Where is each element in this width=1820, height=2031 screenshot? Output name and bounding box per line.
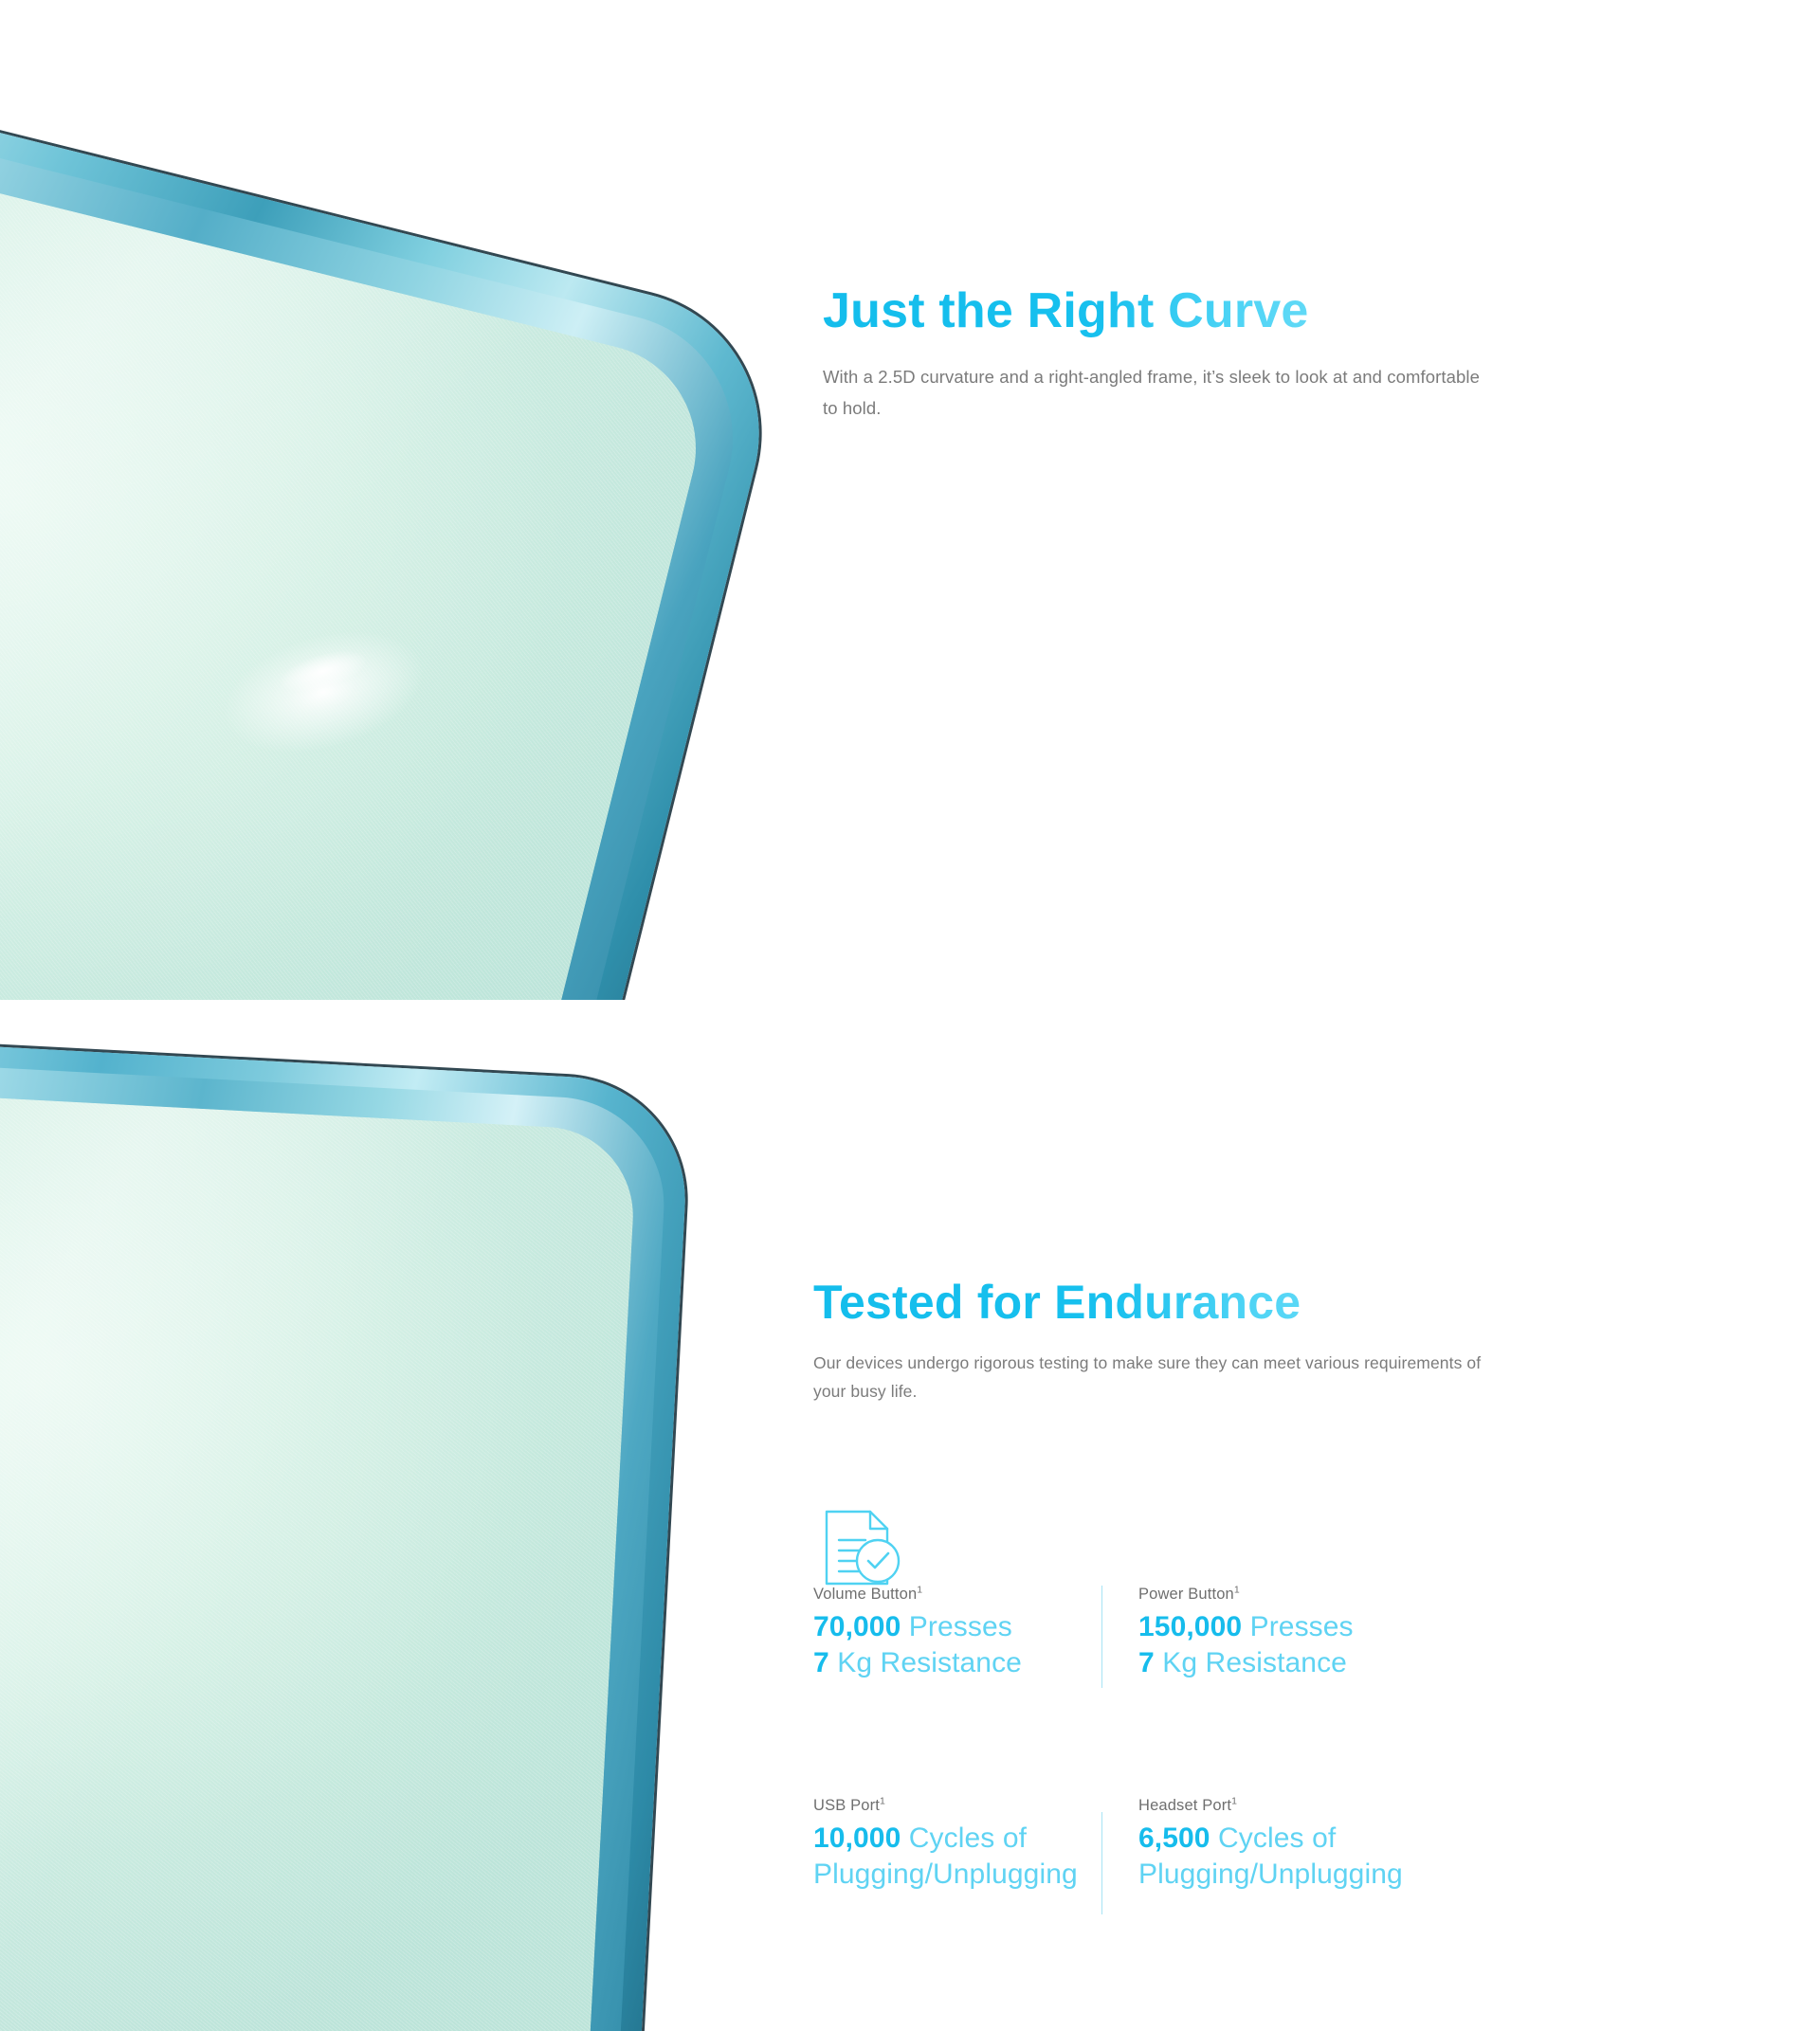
stats-row-ports: USB Port1 10,000 Cycles of Plugging/Unpl… (813, 1797, 1515, 1914)
stat-unit: Plugging/Unplugging (813, 1859, 1078, 1890)
section-just-the-right-curve: Just the Right Curve With a 2.5D curvatu… (0, 0, 1820, 1000)
stat-label-text: Volume Button (813, 1586, 917, 1603)
stat-label: Headset Port1 (1138, 1797, 1444, 1815)
stats-row-buttons: Volume Button1 70,000 Presses 7 Kg Resis… (813, 1586, 1515, 1688)
stat-footnote-marker: 1 (1234, 1585, 1240, 1596)
stat-label: USB Port1 (813, 1797, 1079, 1815)
stat-label-text: USB Port (813, 1797, 880, 1814)
stat-footnote-marker: 1 (917, 1585, 922, 1596)
curve-body-text: With a 2.5D curvature and a right-angled… (823, 362, 1486, 424)
stat-unit: Plugging/Unplugging (1138, 1859, 1403, 1890)
stat-value: 7 (1138, 1647, 1155, 1678)
device-photo-curve (0, 0, 948, 1000)
stat-value: 150,000 (1138, 1611, 1242, 1642)
stat-line-2: Plugging/Unplugging (813, 1857, 1079, 1893)
stat-line-2: Plugging/Unplugging (1138, 1857, 1444, 1893)
stat-line-2: 7 Kg Resistance (813, 1645, 1079, 1681)
stat-unit: Cycles of (1210, 1822, 1337, 1854)
stat-value: 7 (813, 1647, 829, 1678)
stat-unit: Kg Resistance (1155, 1647, 1347, 1678)
stat-footnote-marker: 1 (880, 1796, 885, 1807)
stat-value: 6,500 (1138, 1822, 1210, 1854)
endurance-body-text: Our devices undergo rigorous testing to … (813, 1349, 1515, 1405)
phone-corner-image-top (0, 59, 789, 1000)
stat-label: Volume Button1 (813, 1586, 1079, 1604)
stat-label: Power Button1 (1138, 1586, 1444, 1604)
stat-footnote-marker: 1 (1231, 1796, 1237, 1807)
certificate-document-check-icon (813, 1502, 904, 1593)
phone-corner-image-bottom (0, 1032, 691, 2031)
stat-value: 10,000 (813, 1822, 901, 1854)
curve-headline: Just the Right Curve (823, 284, 1486, 337)
device-back-panel (0, 1086, 638, 2031)
stat-line-1: 10,000 Cycles of (813, 1821, 1079, 1857)
stat-unit: Presses (901, 1611, 1012, 1642)
endurance-stats-grid: Volume Button1 70,000 Presses 7 Kg Resis… (813, 1586, 1515, 1914)
product-feature-page: Just the Right Curve With a 2.5D curvatu… (0, 0, 1820, 2031)
stat-volume-button: Volume Button1 70,000 Presses 7 Kg Resis… (813, 1586, 1101, 1681)
stat-value: 70,000 (813, 1611, 901, 1642)
stat-unit: Kg Resistance (829, 1647, 1022, 1678)
stat-line-2: 7 Kg Resistance (1138, 1645, 1444, 1681)
stat-usb-port: USB Port1 10,000 Cycles of Plugging/Unpl… (813, 1797, 1101, 1893)
stat-line-1: 70,000 Presses (813, 1609, 1079, 1645)
stat-unit: Cycles of (901, 1822, 1027, 1854)
curve-copy-block: Just the Right Curve With a 2.5D curvatu… (823, 284, 1486, 424)
stat-headset-port: Headset Port1 6,500 Cycles of Plugging/U… (1102, 1797, 1444, 1893)
device-photo-endurance (0, 1024, 758, 2031)
endurance-copy-block: Tested for Endurance Our devices undergo… (813, 1277, 1515, 1405)
stat-label-text: Headset Port (1138, 1797, 1231, 1814)
stat-line-1: 150,000 Presses (1138, 1609, 1444, 1645)
stat-label-text: Power Button (1138, 1586, 1234, 1603)
stat-power-button: Power Button1 150,000 Presses 7 Kg Resis… (1102, 1586, 1444, 1681)
stat-unit: Presses (1242, 1611, 1354, 1642)
stat-line-1: 6,500 Cycles of (1138, 1821, 1444, 1857)
endurance-headline: Tested for Endurance (813, 1277, 1515, 1328)
